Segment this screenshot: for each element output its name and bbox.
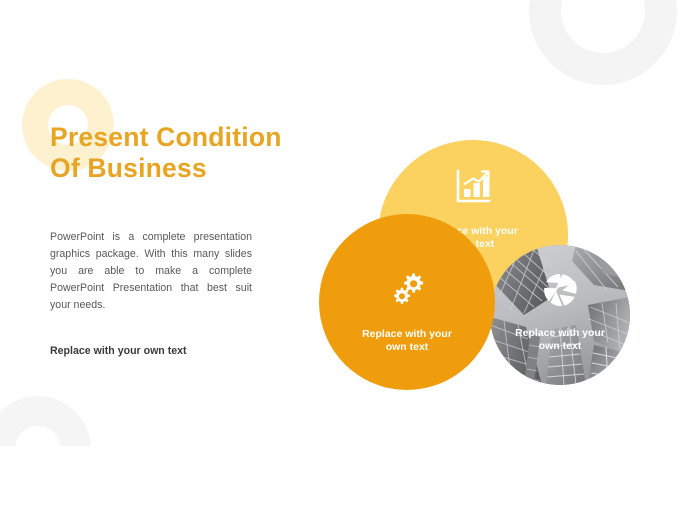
circle-caption-photo-line-2: own text (502, 340, 618, 353)
circle-caption-photo-line-1: Replace with your (502, 327, 618, 340)
circle-card-photo[interactable]: Replace with your own text (490, 245, 630, 385)
slide-canvas: Present Condition Of Business PowerPoint… (0, 0, 680, 510)
circle-caption-orange-line-2: own text (349, 341, 465, 354)
camera-aperture-icon (542, 272, 578, 313)
circles-cluster: Replace with your own text (0, 0, 680, 510)
skyscraper-photo (490, 245, 630, 385)
circle-card-orange[interactable]: Replace with your own text (319, 214, 495, 390)
circle-caption-orange: Replace with your own text (349, 328, 465, 354)
circle-caption-orange-line-1: Replace with your (349, 328, 465, 341)
circle-caption-photo: Replace with your own text (502, 327, 618, 353)
gears-icon (388, 270, 426, 313)
bar-chart-growth-icon (453, 167, 493, 212)
